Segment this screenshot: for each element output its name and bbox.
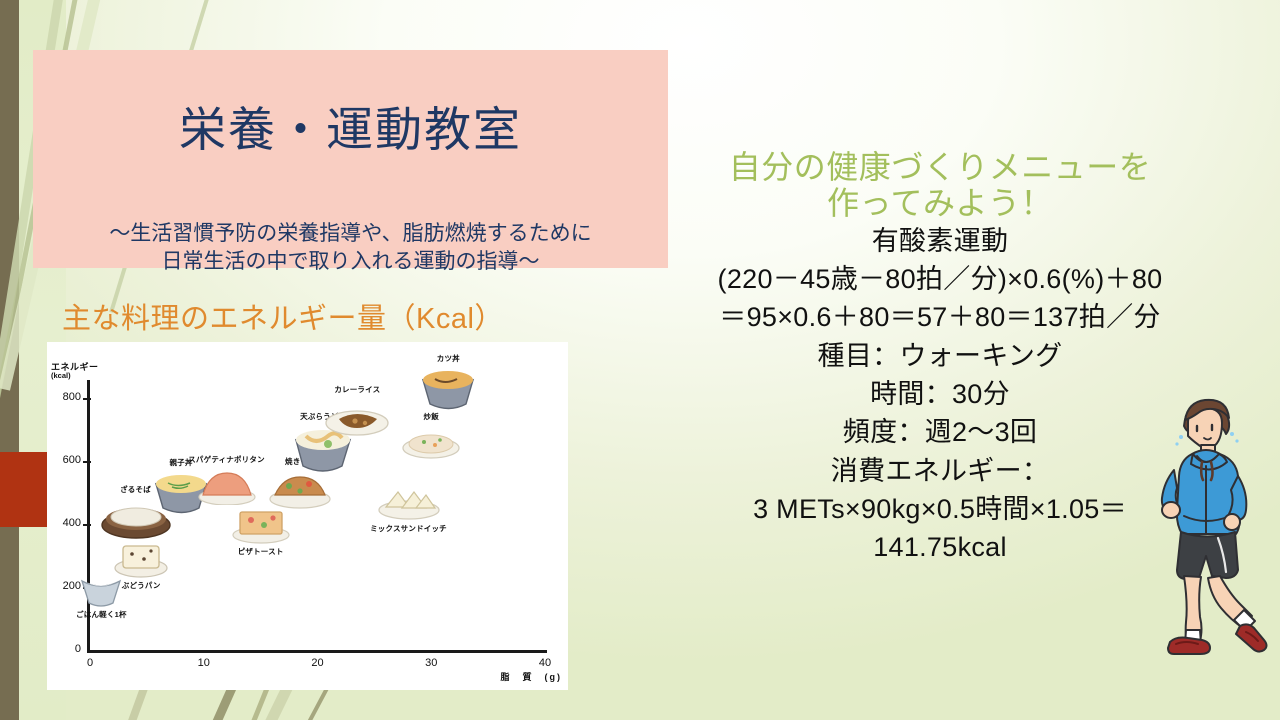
chart-data-point: 炒飯: [402, 424, 460, 460]
right-heading: 自分の健康づくりメニューを 作ってみよう！: [650, 150, 1230, 222]
right-text-line: ＝95×0.6＋80＝57＋80＝137拍／分: [650, 298, 1230, 336]
y-axis-tick: 200: [51, 580, 81, 592]
data-point-label: ごはん軽く1杯: [76, 609, 127, 620]
data-point-label: カツ丼: [437, 353, 460, 364]
data-point-label: ぶどうパン: [122, 580, 161, 591]
right-text-line: 有酸素運動: [650, 222, 1230, 260]
data-point-label: ざるそば: [120, 484, 151, 495]
y-axis-tick: 600: [51, 454, 81, 466]
right-content-column: 自分の健康づくりメニューを 作ってみよう！ 有酸素運動(220－45歳－80拍／…: [650, 150, 1230, 567]
x-axis-line: [87, 650, 547, 653]
subtitle-line-1: 〜生活習慣予防の栄養指導や、脂肪燃焼するために: [47, 220, 654, 248]
energy-fat-scatter-chart: エネルギー (kcal) 脂 質 (g) 8006004002000010203…: [47, 342, 568, 690]
chart-data-point: ぶどうパン: [113, 540, 169, 578]
chart-data-point: カツ丼: [419, 366, 477, 410]
chart-data-point: ごはん軽く1杯: [78, 573, 124, 607]
chart-heading: 主な料理のエネルギー量（Kcal）: [62, 295, 504, 337]
right-text-line: 時間：30分: [650, 375, 1230, 413]
subtitle-line-2: 日常生活の中で取り入れる運動の指導〜: [47, 248, 654, 276]
right-text-lines: 有酸素運動(220－45歳－80拍／分)×0.6(%)＋80＝95×0.6＋80…: [650, 222, 1230, 567]
x-axis-tick: 10: [189, 657, 219, 669]
data-point-label: カレーライス: [334, 384, 380, 395]
data-point-label: ミックスサンドイッチ: [370, 523, 447, 534]
y-axis-tick: 800: [51, 391, 81, 403]
data-point-label: ピザトースト: [238, 546, 284, 557]
page-title: 栄養・運動教室: [33, 106, 668, 153]
right-text-line: 消費エネルギー：: [650, 452, 1230, 490]
right-text-line: 3 METs×90kg×0.5時間×1.05＝: [650, 490, 1230, 528]
data-point-label: 炒飯: [424, 411, 439, 422]
title-panel: 栄養・運動教室 〜生活習慣予防の栄養指導や、脂肪燃焼するために 日常生活の中で取…: [33, 50, 668, 268]
y-axis-unit: (kcal): [51, 371, 71, 380]
right-heading-line-1: 自分の健康づくりメニューを: [650, 150, 1230, 186]
chart-data-point: ミックスサンドイッチ: [378, 483, 440, 521]
right-text-line: 種目：ウォーキング: [650, 337, 1230, 375]
left-red-block: [0, 452, 53, 527]
x-axis-tick: 20: [303, 657, 333, 669]
right-heading-line-2: 作ってみよう！: [650, 186, 1230, 222]
chart-data-point: スパゲティナポリタン: [198, 467, 256, 505]
chart-data-point: カレーライス: [325, 397, 389, 437]
right-text-line: (220－45歳－80拍／分)×0.6(%)＋80: [650, 260, 1230, 298]
y-axis-tick: 400: [51, 517, 81, 529]
running-man-illustration: [1148, 392, 1280, 660]
x-axis-label: 脂 質 (g): [501, 670, 563, 683]
chart-data-point: 焼きそば: [269, 469, 331, 509]
right-text-line: 141.75kcal: [650, 528, 1230, 566]
y-axis-tick: 0: [51, 643, 81, 655]
data-point-label: スパゲティナポリタン: [188, 454, 265, 465]
right-text-line: 頻度：週2〜3回: [650, 413, 1230, 451]
page-subtitle: 〜生活習慣予防の栄養指導や、脂肪燃焼するために 日常生活の中で取り入れる運動の指…: [47, 220, 654, 277]
slide-canvas: 栄養・運動教室 〜生活習慣予防の栄養指導や、脂肪燃焼するために 日常生活の中で取…: [0, 0, 1280, 720]
x-axis-tick: 30: [416, 657, 446, 669]
x-axis-tick: 0: [75, 657, 105, 669]
chart-plot-area: エネルギー (kcal) 脂 質 (g) 8006004002000010203…: [47, 342, 568, 690]
chart-data-point: ピザトースト: [232, 504, 290, 544]
x-axis-tick: 40: [530, 657, 560, 669]
